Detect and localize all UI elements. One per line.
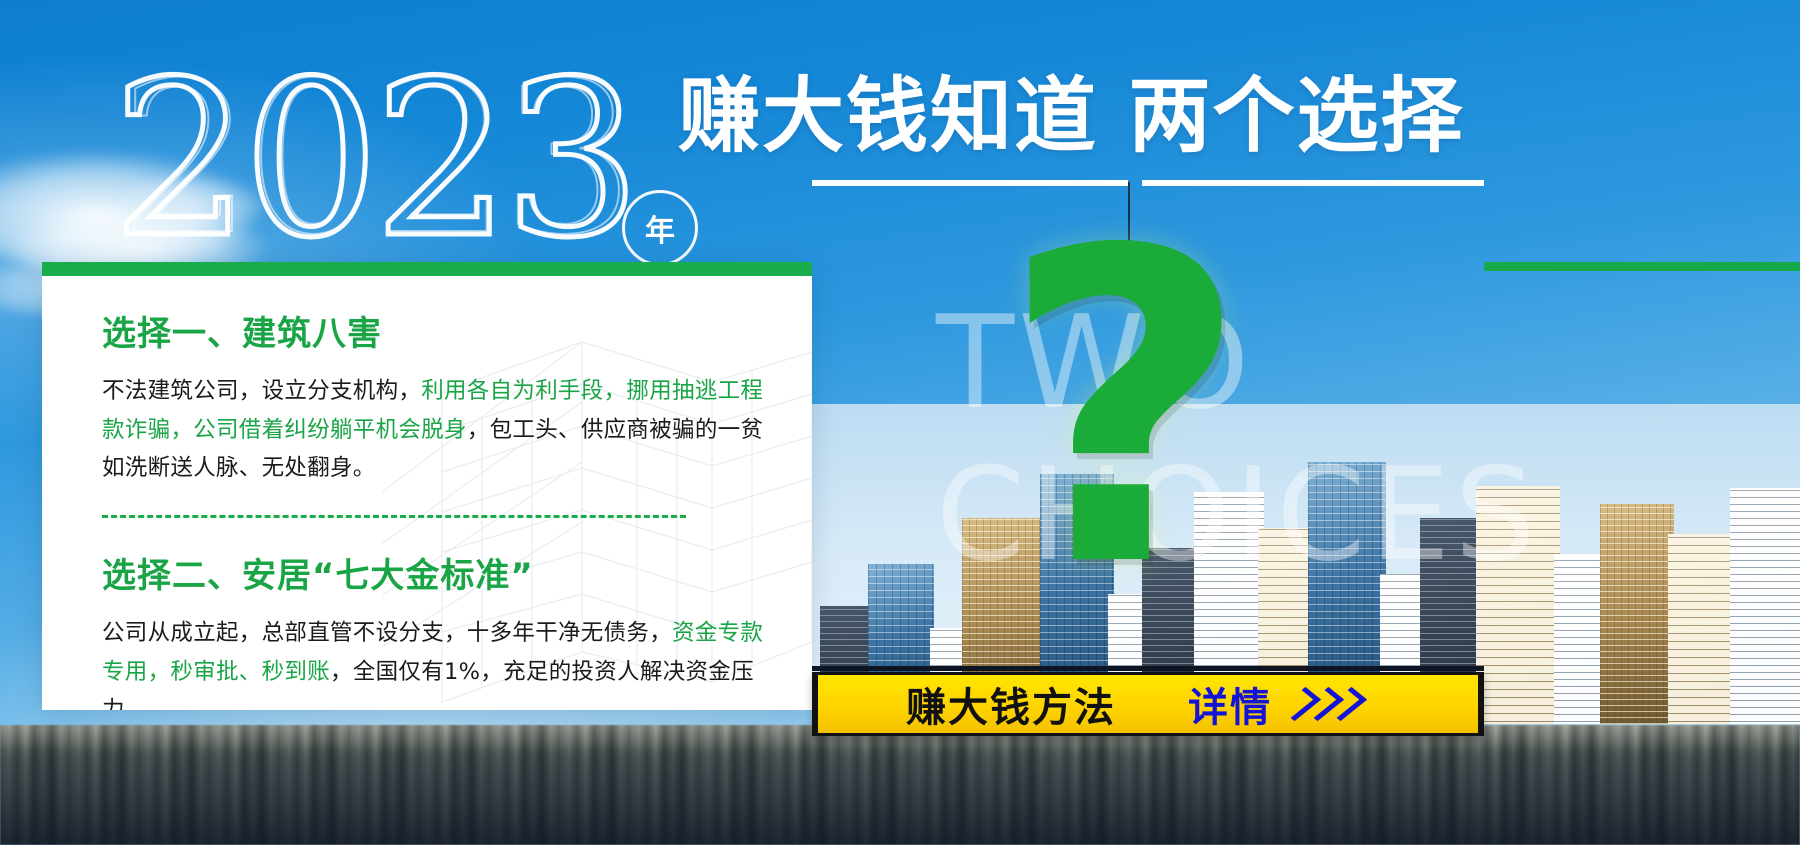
poster-stage: 2023 2023 年 赚大钱知道 两个选择 TWO CHOICES ? bbox=[0, 0, 1800, 845]
cta-right-edge bbox=[1478, 672, 1484, 736]
question-mark-icon: ? bbox=[1000, 196, 1249, 626]
waterfront-strip bbox=[0, 725, 1800, 845]
chevron-right-icon bbox=[1290, 687, 1356, 721]
cta-left-edge bbox=[812, 672, 818, 736]
section-divider bbox=[102, 515, 686, 518]
section-one-title: 选择一、建筑八害 bbox=[102, 306, 792, 355]
section-one-body: 不法建筑公司，设立分支机构，利用各自为利手段，挪用抽逃工程款诈骗，公司借着纠纷躺… bbox=[102, 372, 784, 488]
cta-banner[interactable]: 赚大钱方法 详情 bbox=[812, 672, 1484, 736]
page-title: 赚大钱知道 两个选择 bbox=[678, 74, 1465, 160]
card-content: 选择一、建筑八害 不法建筑公司，设立分支机构，利用各自为利手段，挪用抽逃工程款诈… bbox=[102, 306, 792, 710]
year-unit-badge: 年 bbox=[622, 190, 698, 266]
year-numeral-echo: 2023 bbox=[120, 56, 629, 264]
cta-top-rule bbox=[812, 666, 1484, 671]
section-two-body: 公司从成立起，总部直管不设分支，十多年干净无债务，资金专款专用，秒审批、秒到账，… bbox=[102, 614, 784, 710]
text-run: 公司从成立起，总部直管不设分支，十多年干净无债务， bbox=[102, 620, 672, 646]
cta-link-label[interactable]: 详情 bbox=[1188, 675, 1272, 733]
text-run: 不法建筑公司，设立分支机构， bbox=[102, 378, 421, 404]
content-card: 选择一、建筑八害 不法建筑公司，设立分支机构，利用各自为利手段，挪用抽逃工程款诈… bbox=[42, 262, 812, 710]
section-two-title: 选择二、安居“七大金标准” bbox=[102, 548, 792, 597]
cta-label: 赚大钱方法 bbox=[906, 675, 1116, 733]
green-accent-bar bbox=[1484, 262, 1800, 271]
